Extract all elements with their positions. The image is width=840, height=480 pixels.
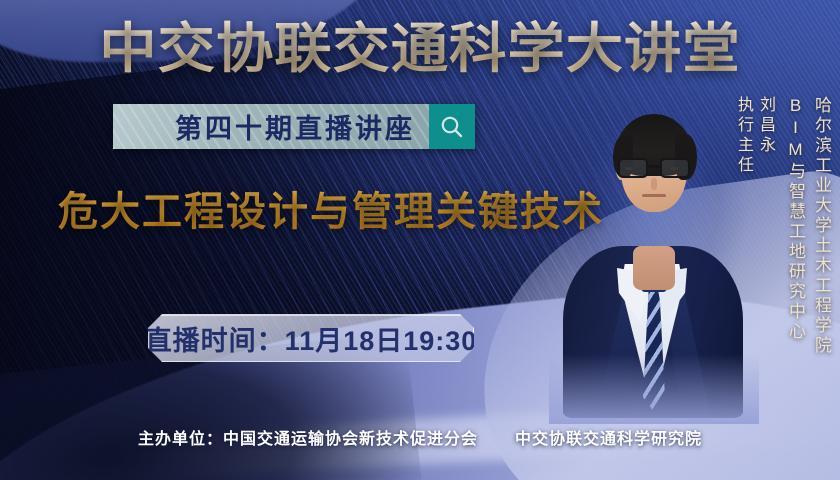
- broadcast-time-label: 直播时间：11月18日19:30: [145, 319, 478, 358]
- portrait-neck: [633, 246, 675, 290]
- glasses-lens-left: [618, 158, 648, 178]
- speaker-affiliation-line2: BIM与智慧工地研究中心: [780, 96, 806, 342]
- portrait-nose: [651, 178, 657, 190]
- portrait-mouth: [642, 194, 666, 197]
- series-banner-fill: 第四十期直播讲座: [113, 104, 429, 149]
- speaker-name: 刘昌永: [757, 96, 774, 156]
- speaker-affiliation-line1: 哈尔滨工业大学土木工程学院: [806, 96, 832, 356]
- glasses-icon: [617, 158, 691, 178]
- speaker-name-and-title: 刘昌永 执行主任: [750, 96, 776, 176]
- organizer-secondary: 中交协联交通科学研究院: [515, 431, 702, 448]
- live-stream-poster: 中交协联交通科学大讲堂 第四十期直播讲座 危大工程设计与管理关键技术 直播时间：…: [0, 0, 840, 480]
- search-icon-box[interactable]: [429, 104, 475, 149]
- glasses-bridge: [648, 165, 660, 168]
- organizer-primary: 主办单位：中国交通运输协会新技术促进分会: [138, 431, 478, 448]
- series-banner: 第四十期直播讲座: [113, 104, 475, 149]
- lecture-headline: 危大工程设计与管理关键技术: [58, 186, 604, 238]
- speaker-title: 执行主任: [735, 96, 752, 176]
- broadcast-time-pill: 直播时间：11月18日19:30: [148, 314, 474, 362]
- portrait-bottom-fade: [549, 354, 759, 424]
- search-icon: [439, 114, 465, 140]
- speaker-portrait: [559, 88, 745, 418]
- series-banner-label: 第四十期直播讲座: [175, 107, 415, 146]
- organizer-footer: 主办单位：中国交通运输协会新技术促进分会 中交协联交通科学研究院: [0, 425, 840, 449]
- glasses-lens-right: [660, 158, 690, 178]
- speaker-info-vertical: 哈尔滨工业大学土木工程学院 BIM与智慧工地研究中心 刘昌永 执行主任: [732, 96, 840, 416]
- page-title: 中交协联交通科学大讲堂: [0, 16, 840, 82]
